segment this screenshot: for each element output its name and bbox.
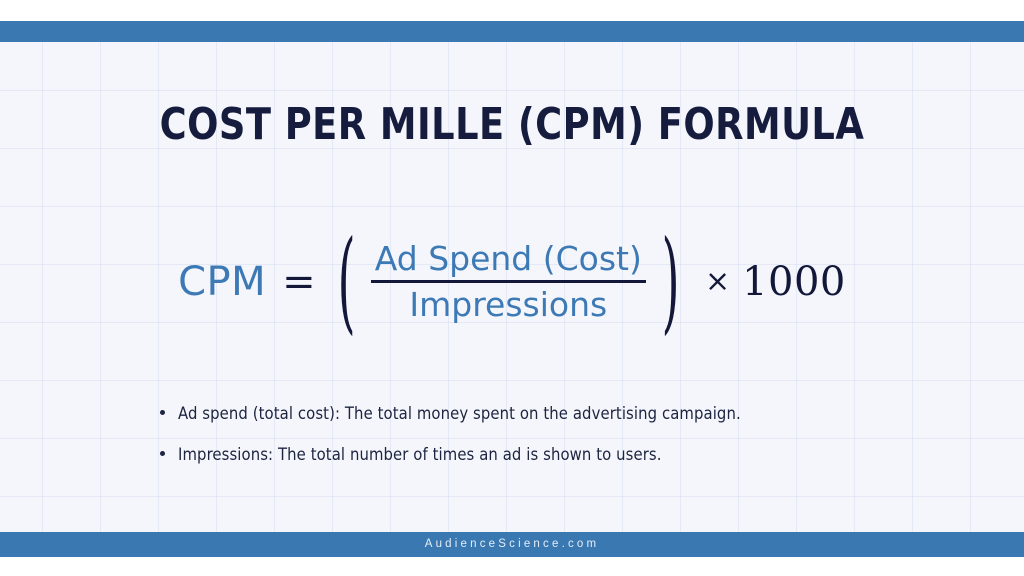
top-accent-bar: [0, 21, 1024, 42]
formula-numerator: Ad Spend (Cost): [371, 239, 646, 279]
page-title: COST PER MILLE (CPM) FORMULA: [36, 98, 988, 152]
bullet-dot-icon: [160, 451, 165, 456]
list-item: Impressions: The total number of times a…: [160, 445, 920, 465]
list-item-label: Ad spend (total cost): The total money s…: [178, 404, 741, 424]
footer-site-label: AudienceScience.com: [0, 537, 1024, 551]
formula-open-paren: (: [337, 227, 355, 338]
bullet-dot-icon: [160, 410, 165, 415]
formula-denominator: Impressions: [405, 285, 611, 325]
slide-canvas: COST PER MILLE (CPM) FORMULA CPM = ( Ad …: [0, 0, 1024, 576]
cpm-formula: CPM = ( Ad Spend (Cost) Impressions ) × …: [0, 228, 1024, 336]
multiplication-icon: ×: [705, 267, 730, 297]
formula-multiplier: 1000: [742, 262, 846, 302]
definition-list: Ad spend (total cost): The total money s…: [160, 404, 920, 486]
formula-close-paren: ): [661, 227, 679, 338]
list-item-label: Impressions: The total number of times a…: [178, 445, 662, 465]
fraction-bar: [371, 280, 646, 283]
formula-lhs: CPM: [178, 262, 266, 302]
list-item: Ad spend (total cost): The total money s…: [160, 404, 920, 424]
formula-equals-sign: =: [282, 262, 316, 302]
formula-fraction: Ad Spend (Cost) Impressions: [371, 239, 646, 325]
